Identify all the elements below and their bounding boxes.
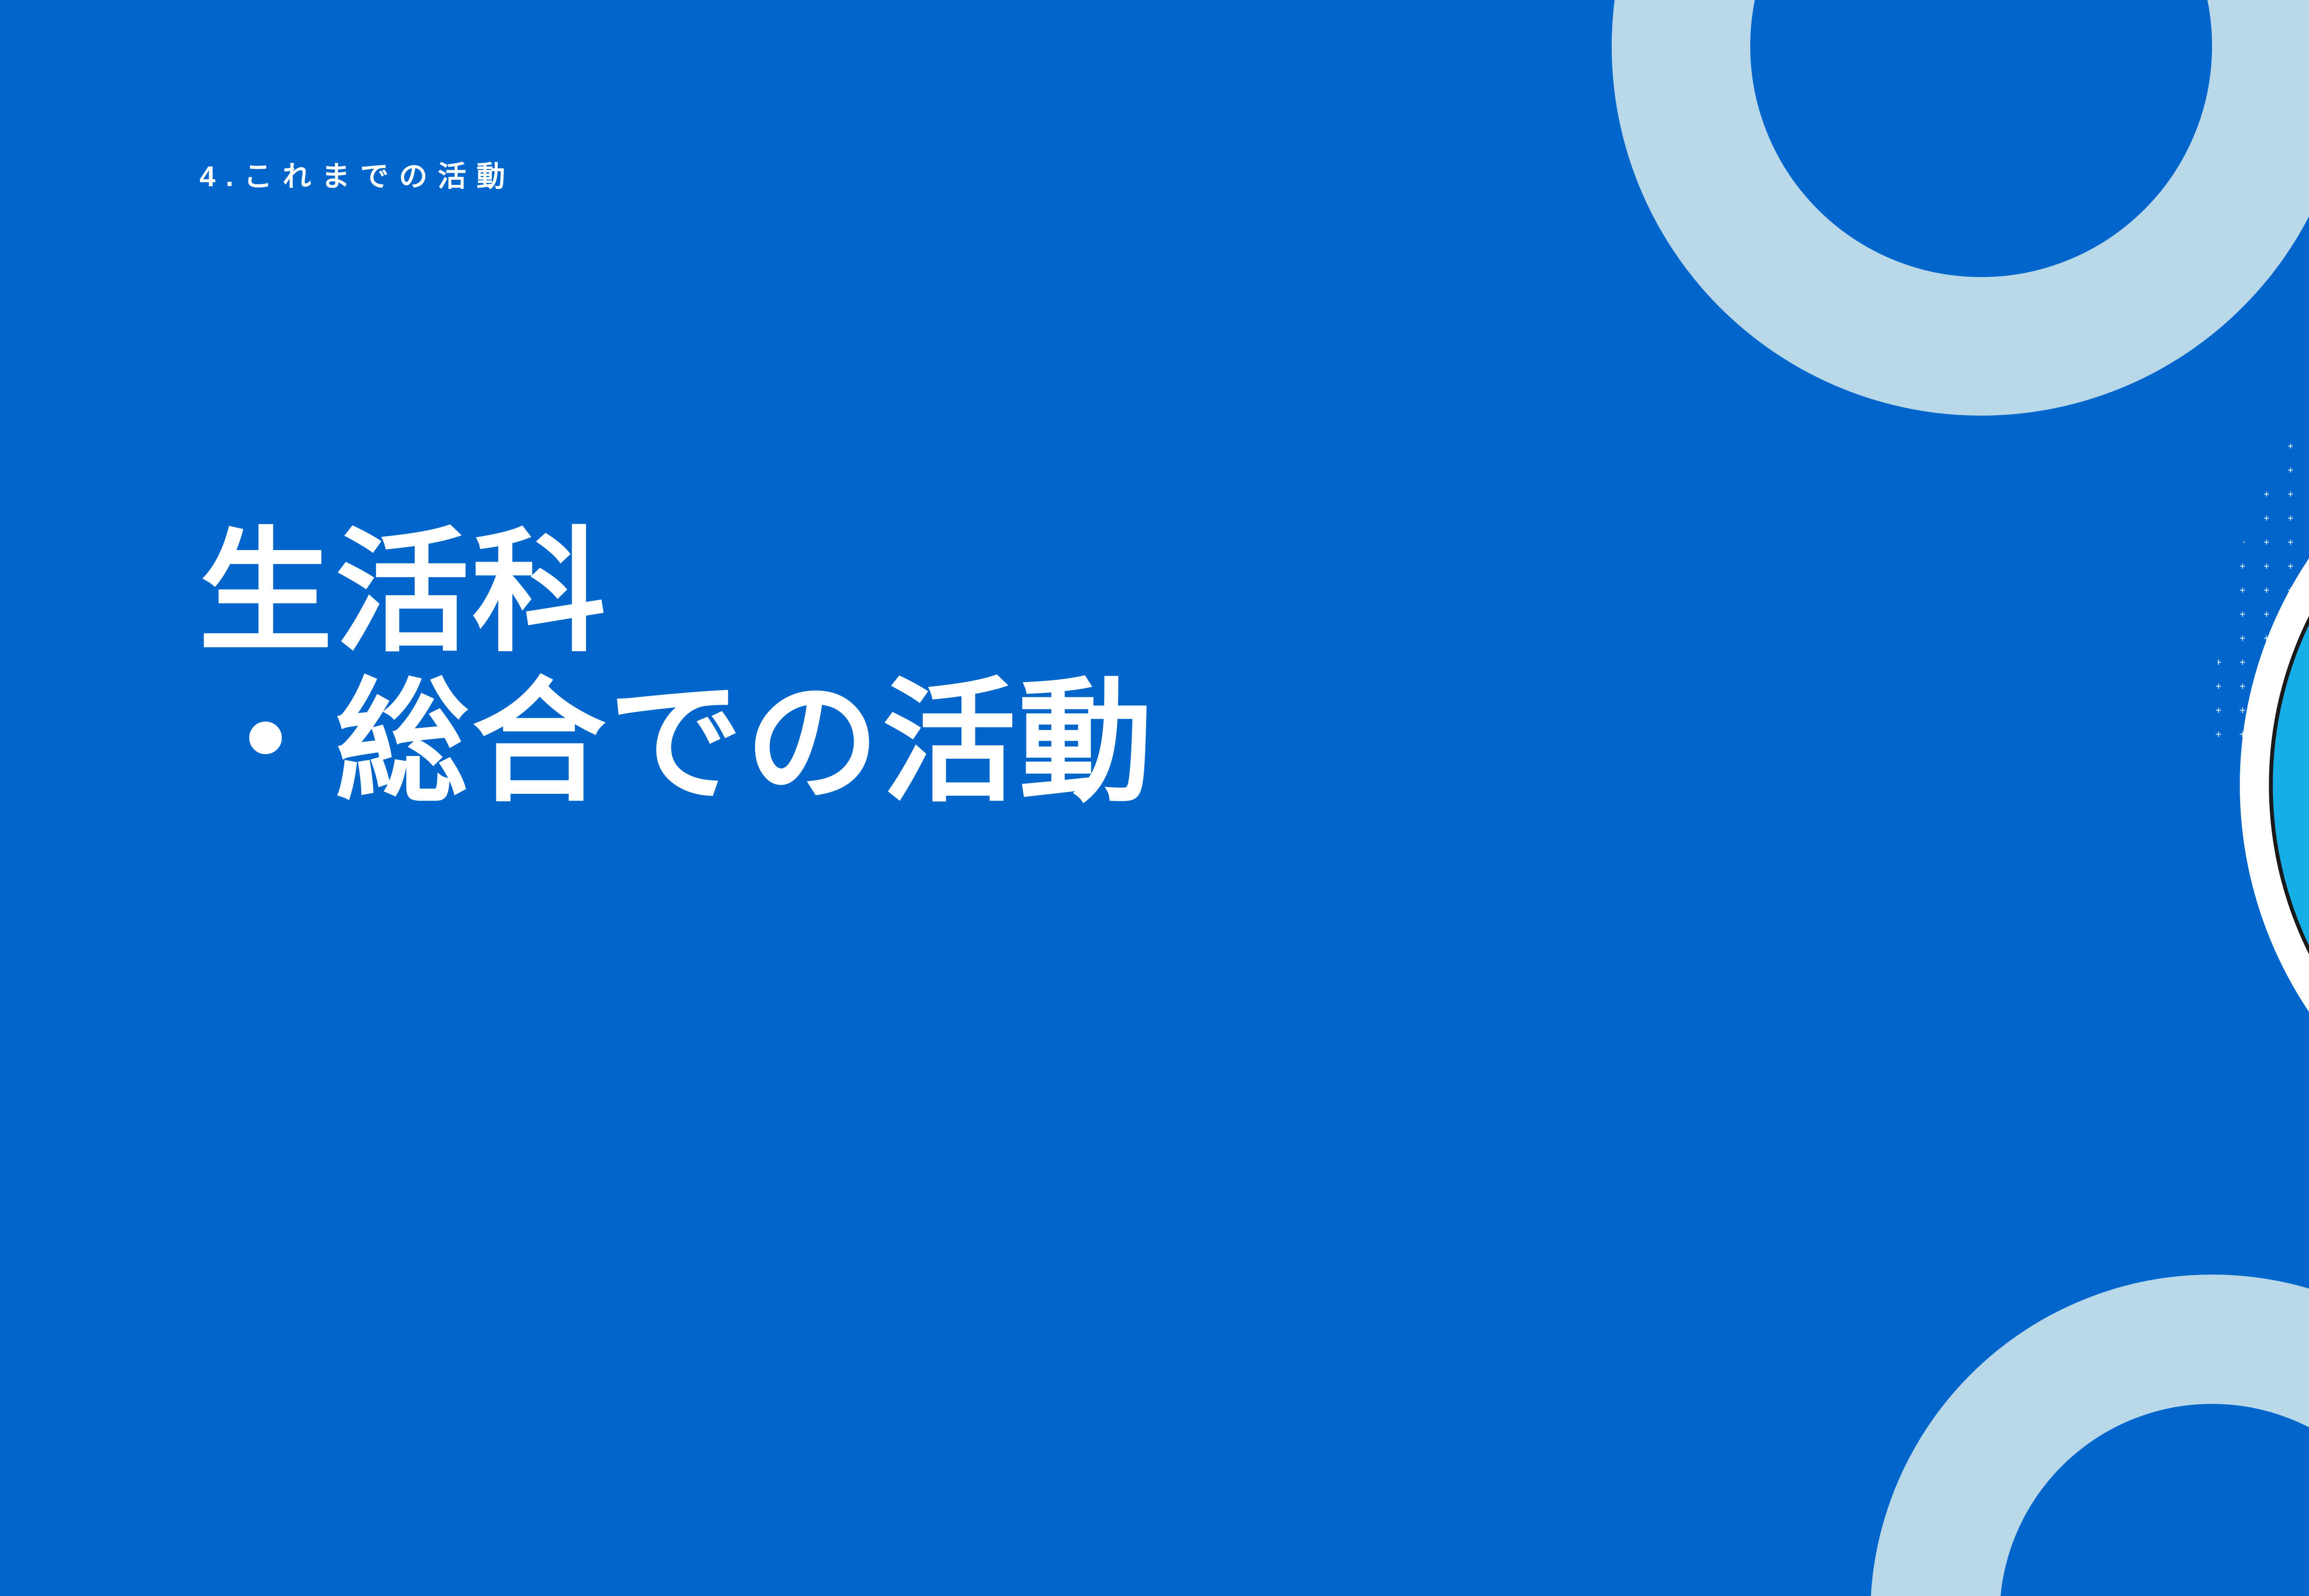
page-title-line-2: ・総合での活動 (199, 672, 1155, 814)
decorative-ring-top-icon (1612, 0, 2309, 416)
mascot-badge-tobepy: とべピー (2212, 351, 2309, 1219)
page-title-line-1: 生活科 (199, 522, 1155, 664)
section-header-label: 4.これまでの活動 (199, 163, 515, 191)
badge-disc (2273, 412, 2309, 1159)
decorative-ring-bottom-icon (1870, 1275, 2309, 1596)
page-title: 生活科 ・総合での活動 (199, 522, 1155, 814)
slide-canvas: 4.これまでの活動 生活科 ・総合での活動 (0, 0, 2309, 1596)
